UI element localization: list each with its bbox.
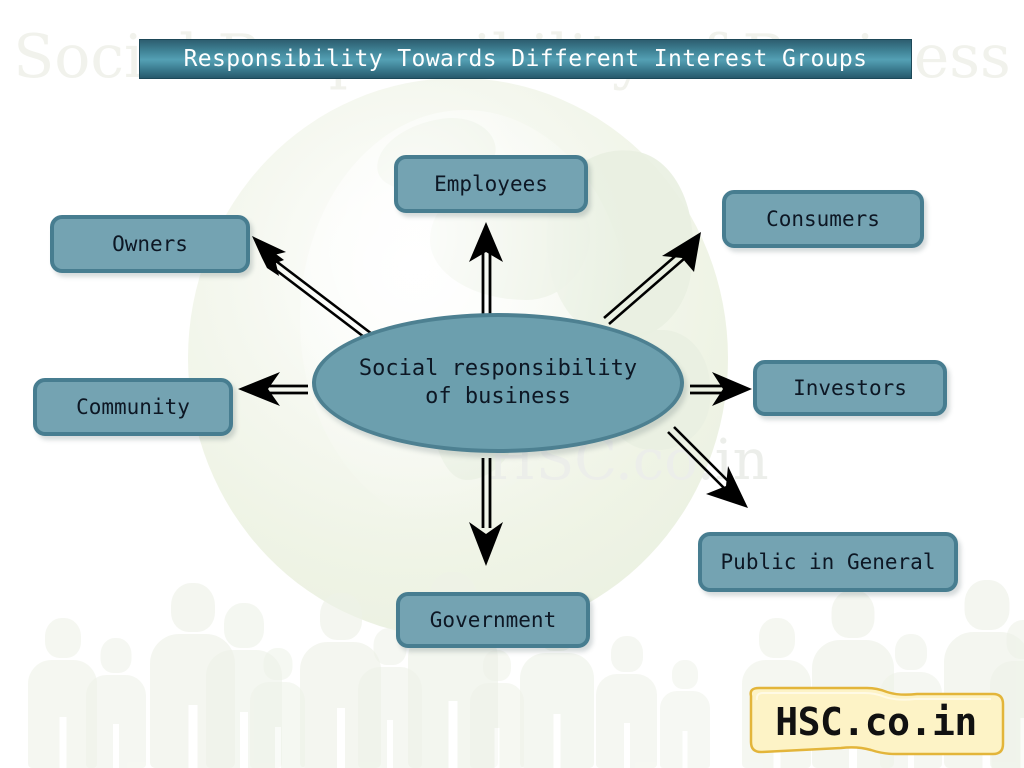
node-community[interactable]: Community <box>33 378 233 436</box>
center-node-label: Social responsibility of business <box>359 355 637 411</box>
hsc-logo-banner[interactable]: HSC.co.in <box>745 682 1007 762</box>
node-consumers-label: Consumers <box>766 207 880 231</box>
node-government[interactable]: Government <box>396 592 590 648</box>
node-employees-label: Employees <box>434 172 548 196</box>
center-node-label-line2: of business <box>425 384 571 409</box>
node-consumers[interactable]: Consumers <box>722 190 924 248</box>
node-community-label: Community <box>76 395 190 419</box>
node-public-in-general-label: Public in General <box>721 550 936 574</box>
slide-canvas: Social Responsibility of Business HSC.co… <box>0 0 1024 768</box>
center-node-label-line1: Social responsibility <box>359 356 637 381</box>
node-public-in-general[interactable]: Public in General <box>698 532 958 592</box>
node-owners-label: Owners <box>112 232 188 256</box>
node-employees[interactable]: Employees <box>394 155 588 213</box>
diagram-nodes-layer: Social responsibility of business Owners… <box>0 0 1024 768</box>
hsc-logo-text: HSC.co.in <box>745 682 1007 762</box>
node-government-label: Government <box>430 608 556 632</box>
node-investors[interactable]: Investors <box>753 360 947 416</box>
node-investors-label: Investors <box>793 376 907 400</box>
node-owners[interactable]: Owners <box>50 215 250 273</box>
center-node-social-responsibility[interactable]: Social responsibility of business <box>312 313 684 453</box>
